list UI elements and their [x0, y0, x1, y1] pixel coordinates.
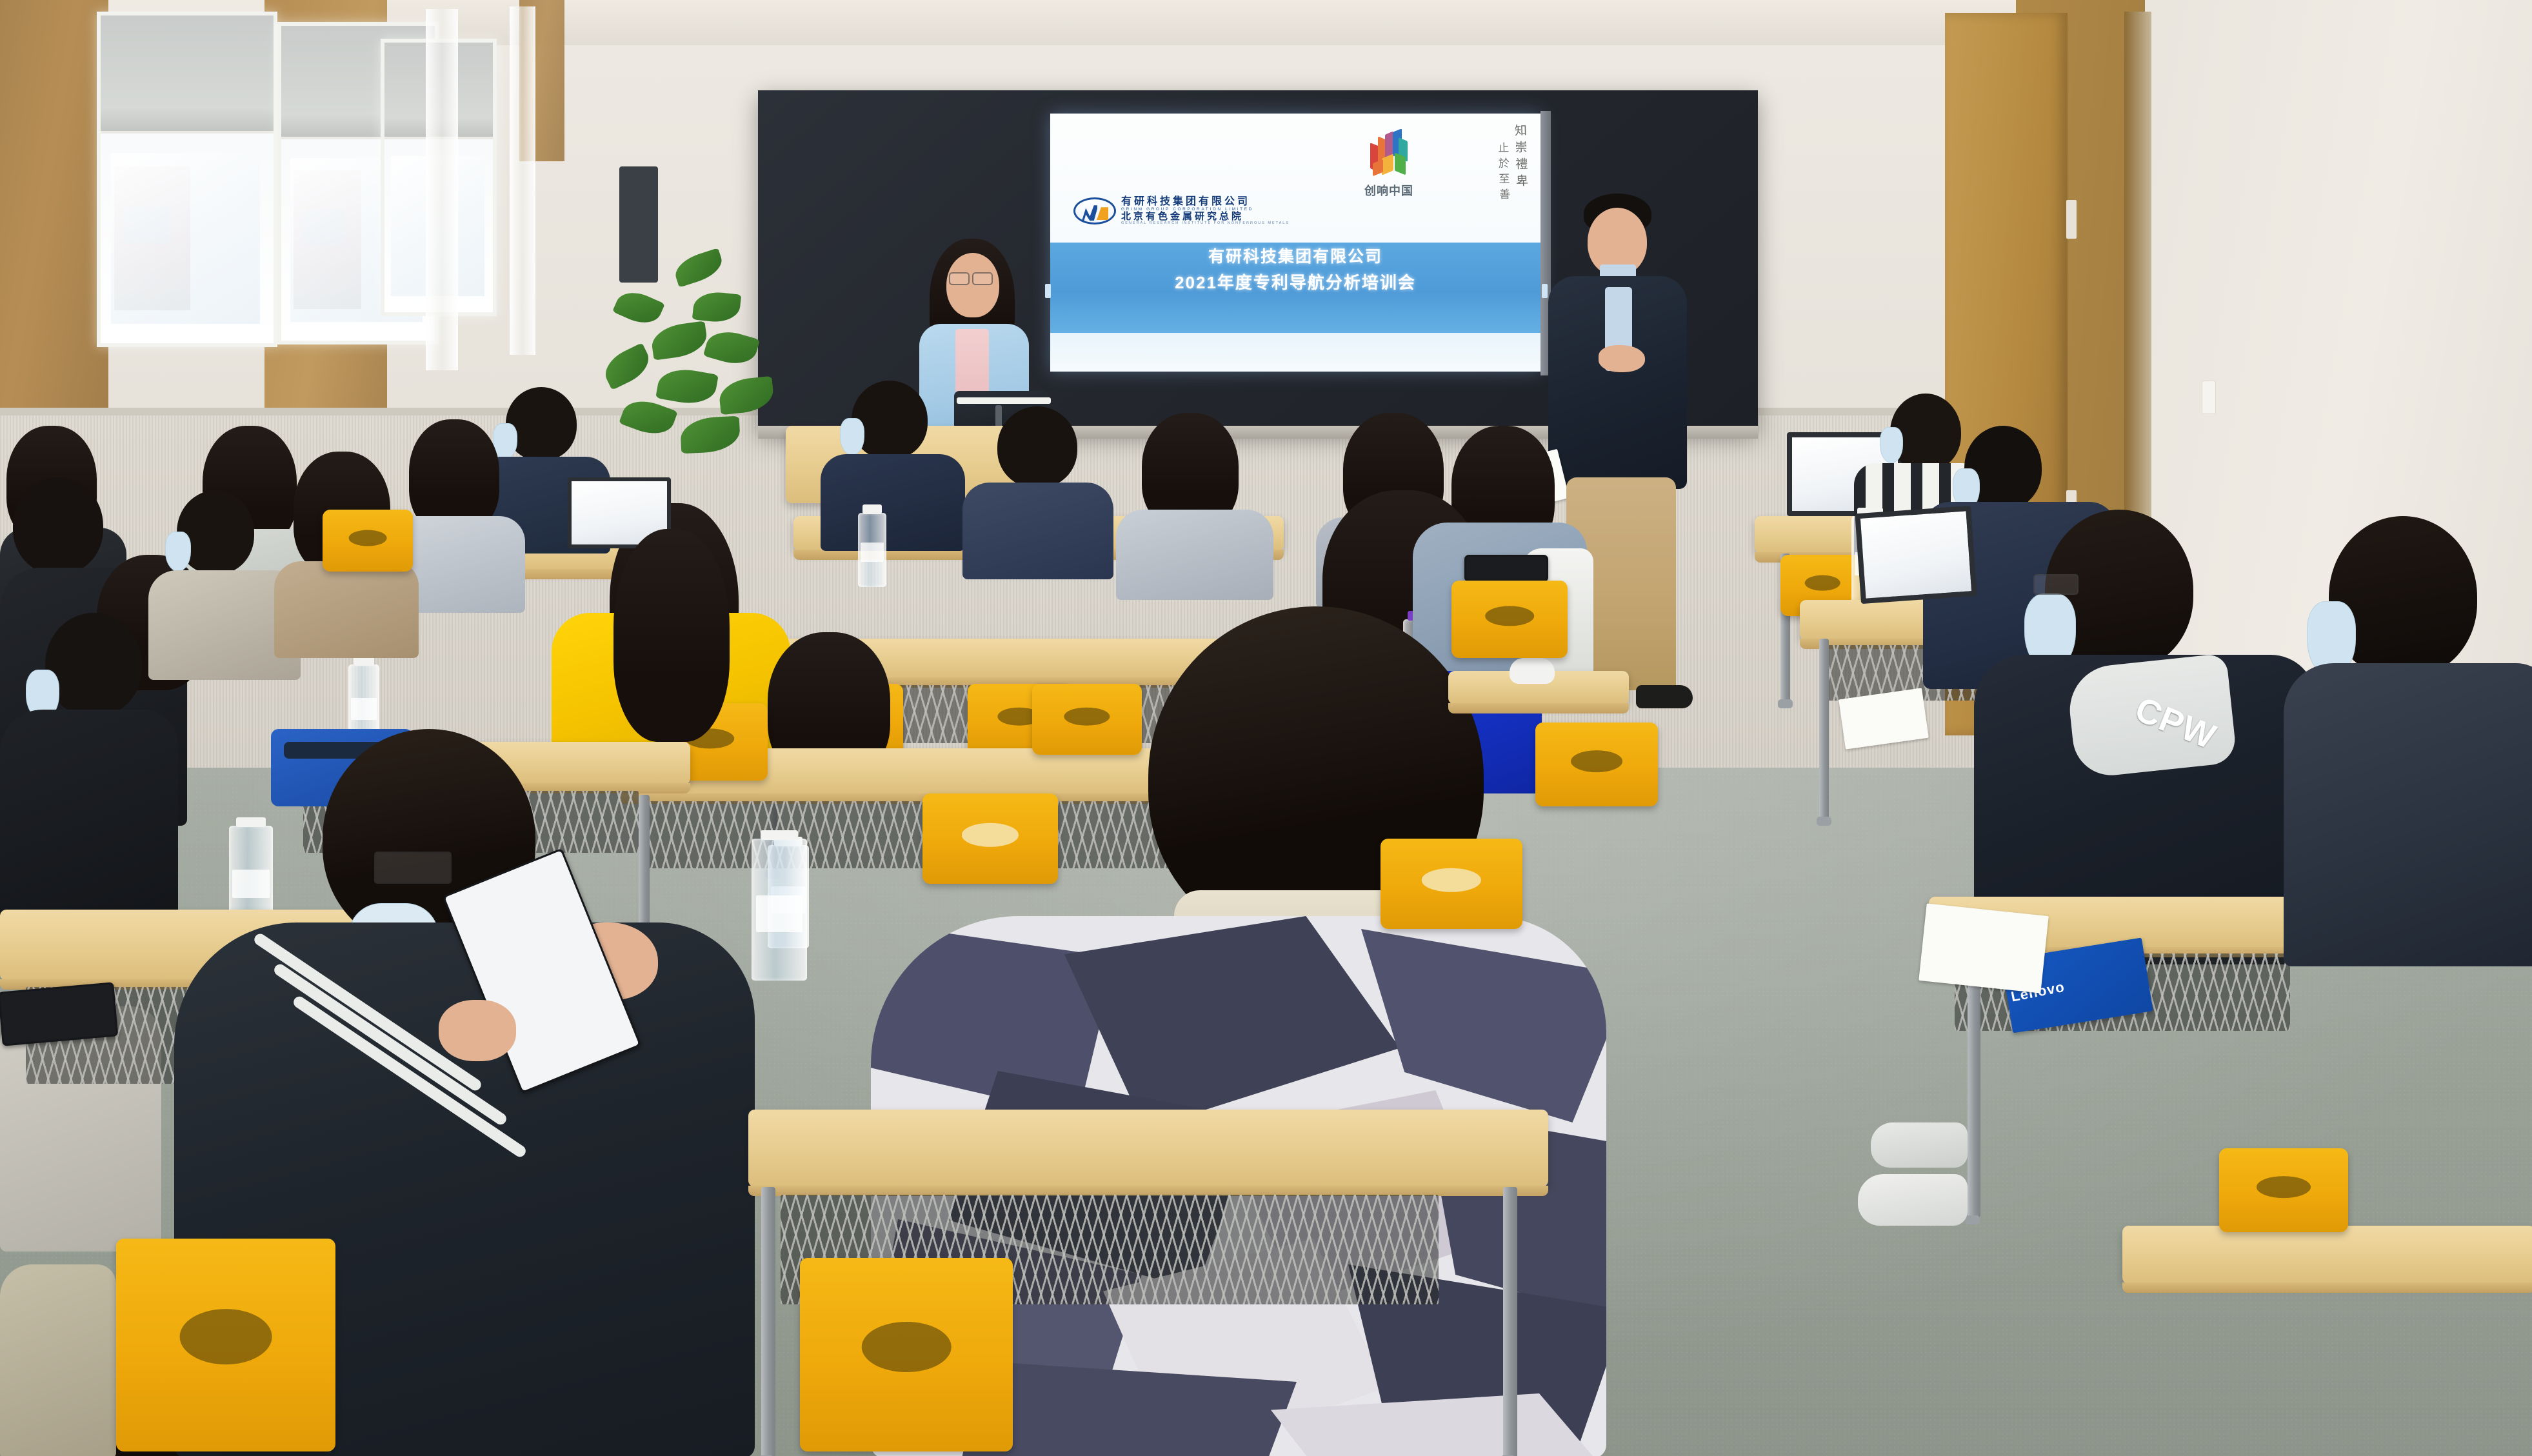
chair-center-e[interactable]: [1381, 839, 1522, 929]
calligraphy: 知崇禮卑 止於至善: [1453, 124, 1530, 240]
chair-presenter-side[interactable]: [1451, 581, 1568, 658]
water-bottle[interactable]: [858, 513, 886, 587]
desk-right-r4: [2122, 1226, 2532, 1284]
presenter-hand: [1599, 345, 1645, 372]
chair-left-a[interactable]: [323, 510, 413, 572]
eyeglasses: [374, 852, 452, 884]
water-bottle-large[interactable]: [752, 839, 807, 981]
curtain-1: [426, 9, 458, 370]
slide-lower-area: [1050, 333, 1540, 372]
computer-mouse[interactable]: [1510, 658, 1555, 684]
classroom-photo: 有研科技集团有限公司 GRINM GROUP CORPORATION LIMIT…: [0, 0, 2532, 1456]
eyeglasses: [2033, 574, 2078, 595]
desk-leg: [1968, 947, 1980, 1218]
chair-center-d[interactable]: [1032, 684, 1142, 755]
face-mask: [165, 532, 191, 572]
bag-paper-edge: [957, 397, 1051, 404]
phone-on-desk[interactable]: [1464, 555, 1548, 582]
roller-blind[interactable]: [101, 15, 274, 134]
student-rowA-2: [961, 406, 1116, 555]
light-switch[interactable]: [2202, 381, 2216, 414]
desk-leg: [761, 1187, 775, 1456]
assistant-glasses-right: [972, 272, 993, 285]
wall-speaker: [619, 166, 658, 283]
ponytail-tail: [613, 529, 730, 742]
grinm-logo: 有研科技集团有限公司 GRINM GROUP CORPORATION LIMIT…: [1073, 196, 1290, 226]
face-mask: [840, 418, 864, 455]
laptop-right-r2[interactable]: [1855, 506, 1977, 604]
desk-leg: [1819, 639, 1829, 819]
curtain-2: [510, 6, 535, 355]
smartphone-on-desk[interactable]: [0, 982, 118, 1046]
slide-headline-line1: 有研科技集团有限公司: [1050, 245, 1540, 270]
student-rowA-3: [1116, 413, 1277, 568]
student-head: [997, 406, 1077, 488]
chair-front-far-left[interactable]: [116, 1239, 335, 1451]
chair-right-r4[interactable]: [2219, 1148, 2348, 1232]
window-left-1: [97, 12, 277, 347]
assistant-glasses-left: [949, 272, 970, 285]
chair-center-c[interactable]: [1535, 723, 1658, 806]
sneaker-left: [1858, 1174, 1968, 1226]
grinm-m-mark-icon: [1073, 197, 1116, 224]
calligraphy-col-2: 止於至善: [1494, 142, 1513, 241]
student-head: [852, 381, 928, 459]
student-body: [274, 561, 419, 658]
presenter-shoe-right: [1636, 685, 1693, 708]
face-mask: [1880, 427, 1903, 463]
student-head: [45, 613, 142, 716]
front-jacket: [0, 1264, 116, 1456]
sneaker-right: [1871, 1122, 1968, 1168]
desk-front-center: [748, 1110, 1548, 1187]
paper-sheet: [1919, 903, 2049, 993]
thumb: [439, 1000, 516, 1061]
slide-headline-line2: 2021年度专利导航分析培训会: [1050, 270, 1540, 297]
grinm-cn-line2: 北京有色金属研究总院: [1121, 212, 1290, 222]
far-right-jacket: [2284, 663, 2532, 966]
slide-headline: 有研科技集团有限公司 2021年度专利导航分析培训会: [1050, 245, 1540, 296]
assistant-head: [946, 253, 999, 317]
projected-slide: 有研科技集团有限公司 GRINM GROUP CORPORATION LIMIT…: [1050, 114, 1540, 372]
campaign-logo: 创响中国: [1344, 129, 1434, 199]
pothos-plant: [597, 255, 790, 461]
student-far-right: [2284, 516, 2532, 968]
grinm-cn-line1: 有研科技集团有限公司: [1121, 196, 1290, 207]
campaign-logo-label: 创响中国: [1344, 182, 1434, 199]
chair-front-left[interactable]: [800, 1258, 1013, 1451]
window-glare: [111, 153, 259, 323]
hex-cube-icon: [1365, 129, 1413, 179]
student-body: [962, 483, 1113, 579]
desk-leg: [1503, 1187, 1517, 1456]
student-rowA-1: [819, 381, 968, 535]
door-hinge-upper: [2066, 200, 2077, 239]
grinm-en-line2: GENERAL RESEARCH INSTITUTE FOR NONFERROU…: [1121, 222, 1290, 226]
student-body: [821, 454, 965, 551]
student-body: [1116, 510, 1273, 600]
